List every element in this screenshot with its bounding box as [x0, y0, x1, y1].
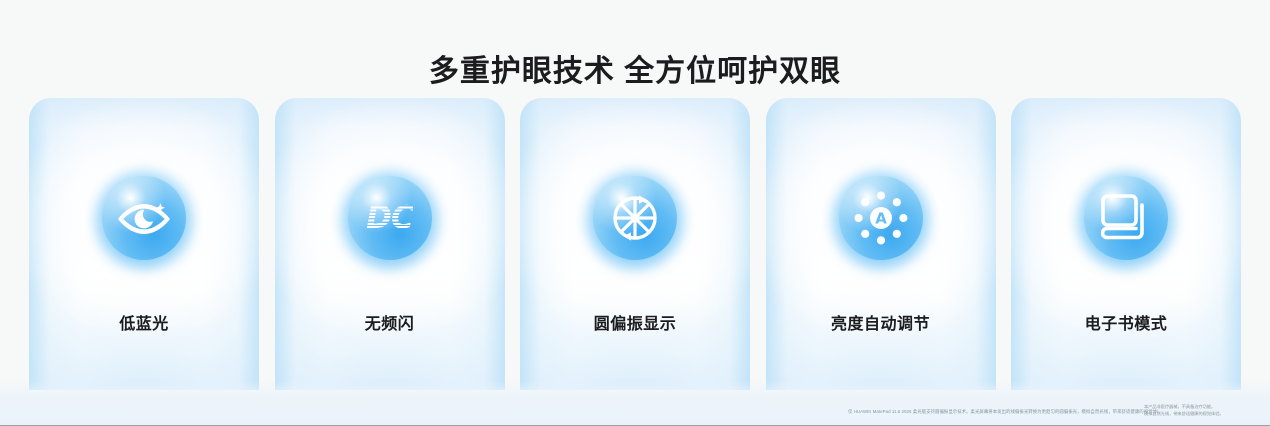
orb	[593, 176, 677, 260]
orb	[102, 176, 186, 260]
feature-card-auto-brightness[interactable]: A	[766, 98, 996, 390]
feature-card-circular-polarization[interactable]: 圆偏振显示	[520, 98, 750, 390]
icon-orb-wrapper	[587, 170, 683, 266]
orb: DC	[348, 176, 432, 260]
orb: A	[839, 176, 923, 260]
eye-crescent-sparkle-icon	[116, 198, 172, 238]
polarization-wheel-icon	[609, 192, 661, 244]
icon-orb-wrapper	[96, 170, 192, 266]
card-label: 电子书模式	[1085, 310, 1168, 334]
footnote-main: 仅 HUAWEI MatePad 11.5 2026 柔光版支持圆偏振显示技术。…	[848, 409, 1158, 415]
card-label: 低蓝光	[119, 310, 169, 334]
card-label: 亮度自动调节	[831, 310, 930, 334]
ebook-mode-icon	[1101, 194, 1151, 242]
feature-card-ebook-mode[interactable]: 电子书模式	[1011, 98, 1241, 390]
icon-orb-wrapper: DC	[342, 170, 438, 266]
icon-orb-wrapper	[1078, 170, 1174, 266]
orb	[1084, 176, 1168, 260]
card-label: 无频闪	[365, 310, 415, 334]
footnote-right: 本产品非医疗器械，不具备治疗功能。 模拟自然光线，带来舒适健康的视觉体验。	[1144, 404, 1254, 417]
feature-card-flicker-free[interactable]: DC 无频闪	[275, 98, 505, 390]
feature-card-row: 低蓝光 DC 无频闪	[29, 98, 1241, 390]
page-title: 多重护眼技术 全方位呵护双眼	[0, 46, 1270, 90]
icon-orb-wrapper: A	[833, 170, 929, 266]
eye-care-feature-page: 多重护眼技术 全方位呵护双眼	[0, 0, 1270, 426]
svg-text:A: A	[875, 210, 887, 228]
feature-card-low-blue-light[interactable]: 低蓝光	[29, 98, 259, 390]
card-label: 圆偏振显示	[594, 310, 677, 334]
auto-brightness-icon: A	[854, 191, 908, 245]
footnote-right-line-2: 模拟自然光线，带来舒适健康的视觉体验。	[1144, 411, 1254, 418]
dc-stripes-icon: DC	[366, 203, 412, 234]
